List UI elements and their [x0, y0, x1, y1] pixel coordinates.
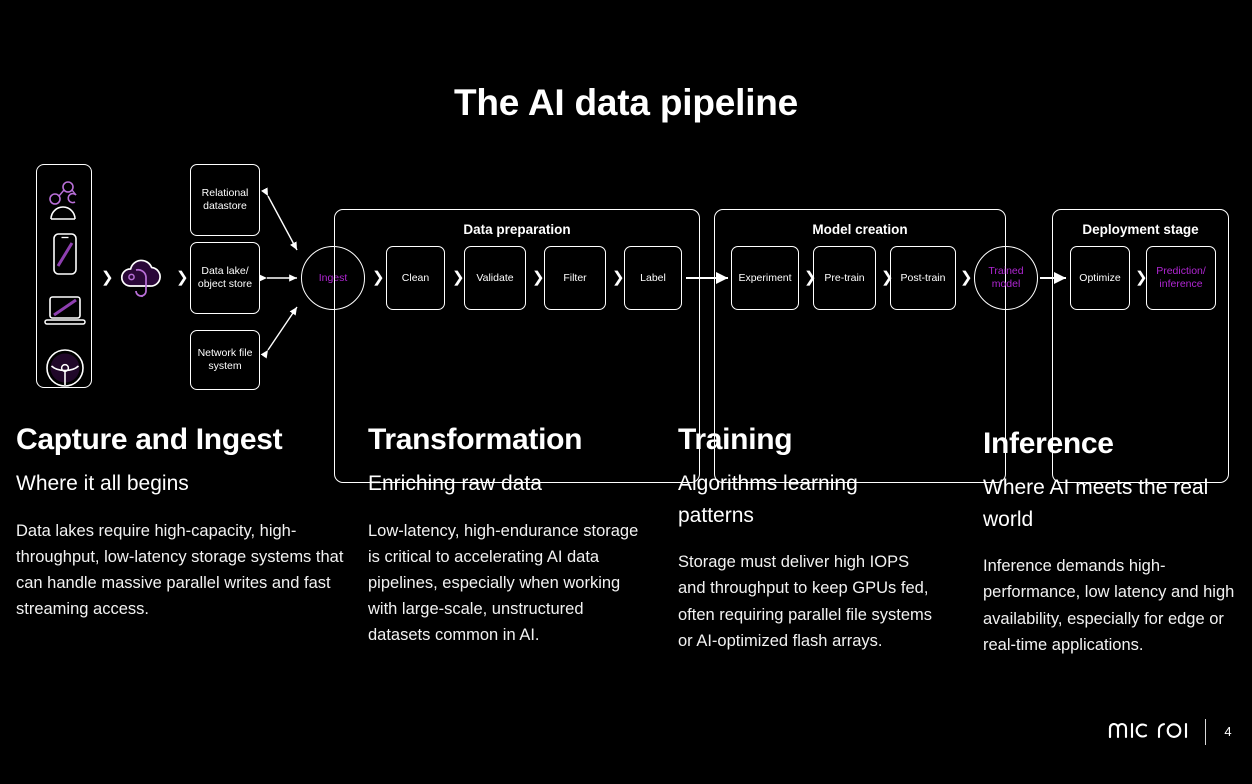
cloud-icon [114, 248, 170, 304]
step-label: Validate [476, 272, 513, 285]
column-capture-and-ingest: Capture and Ingest Where it all begins D… [16, 424, 346, 622]
stage-label: Model creation [715, 222, 1005, 237]
steering-wheel-icon [43, 345, 87, 391]
step-label: Experiment [738, 272, 791, 285]
datastore-label: Network file system [194, 347, 256, 374]
column-body: Low-latency, high-endurance storage is c… [368, 518, 646, 648]
column-subheading: Where it all begins [16, 468, 346, 500]
trained-model-node[interactable]: Trained model [974, 246, 1038, 310]
step-label: Clean [402, 272, 429, 285]
column-transformation: Transformation Enriching raw data Low-la… [368, 424, 646, 648]
chevron-right-icon: ❯ [176, 270, 189, 285]
step-label: Post-train [901, 272, 946, 285]
page-number: 4 [1222, 724, 1234, 739]
column-heading: Inference [983, 428, 1245, 460]
data-sources-panel [36, 164, 92, 388]
step-label: Label [640, 272, 666, 285]
micron-logo [1107, 717, 1189, 746]
column-training: Training Algorithms learning patterns St… [678, 424, 936, 654]
step-pre-train[interactable]: Pre-train [813, 246, 876, 310]
step-label: Optimize [1079, 272, 1120, 285]
trained-model-label: Trained model [975, 265, 1037, 290]
column-subheading: Enriching raw data [368, 468, 646, 500]
column-heading: Capture and Ingest [16, 424, 346, 456]
column-subheading: Where AI meets the real world [983, 472, 1245, 535]
step-clean[interactable]: Clean [386, 246, 445, 310]
ai-data-pipeline-diagram: ❯ ❯ Relational datastore Data lake/ obje… [0, 150, 1252, 400]
slide-footer: 4 [1107, 717, 1235, 746]
page-title: The AI data pipeline [0, 82, 1252, 124]
datastore-data-lake[interactable]: Data lake/ object store [190, 242, 260, 314]
step-experiment[interactable]: Experiment [731, 246, 799, 310]
laptop-icon [43, 289, 87, 335]
column-subheading: Algorithms learning patterns [678, 468, 936, 531]
datastore-label: Data lake/ object store [194, 265, 256, 292]
iot-sensor-network-icon [43, 177, 87, 223]
step-validate[interactable]: Validate [464, 246, 526, 310]
chevron-right-icon: ❯ [452, 270, 465, 285]
step-post-train[interactable]: Post-train [890, 246, 956, 310]
step-label: Filter [563, 272, 586, 285]
step-prediction-inference[interactable]: Prediction/ inference [1146, 246, 1216, 310]
step-optimize[interactable]: Optimize [1070, 246, 1130, 310]
datastore-relational[interactable]: Relational datastore [190, 164, 260, 236]
footer-divider [1205, 719, 1207, 745]
chevron-right-icon: ❯ [960, 270, 973, 285]
column-body: Data lakes require high-capacity, high-t… [16, 518, 346, 622]
datastore-label: Relational datastore [194, 187, 256, 214]
column-body: Storage must deliver high IOPS and throu… [678, 549, 936, 653]
chevron-right-icon: ❯ [101, 270, 114, 285]
column-heading: Training [678, 424, 936, 456]
column-body: Inference demands high-performance, low … [983, 553, 1245, 657]
stage-label: Data preparation [335, 222, 699, 237]
step-label-box[interactable]: Label [624, 246, 682, 310]
step-label: Prediction/ inference [1150, 265, 1212, 290]
step-label: Pre-train [824, 272, 864, 285]
chevron-right-icon: ❯ [532, 270, 545, 285]
datastore-network-file-system[interactable]: Network file system [190, 330, 260, 390]
chevron-right-icon: ❯ [612, 270, 625, 285]
column-heading: Transformation [368, 424, 646, 456]
column-inference: Inference Where AI meets the real world … [983, 428, 1245, 658]
smartphone-icon [43, 231, 87, 277]
step-filter[interactable]: Filter [544, 246, 606, 310]
stage-label: Deployment stage [1053, 222, 1228, 237]
